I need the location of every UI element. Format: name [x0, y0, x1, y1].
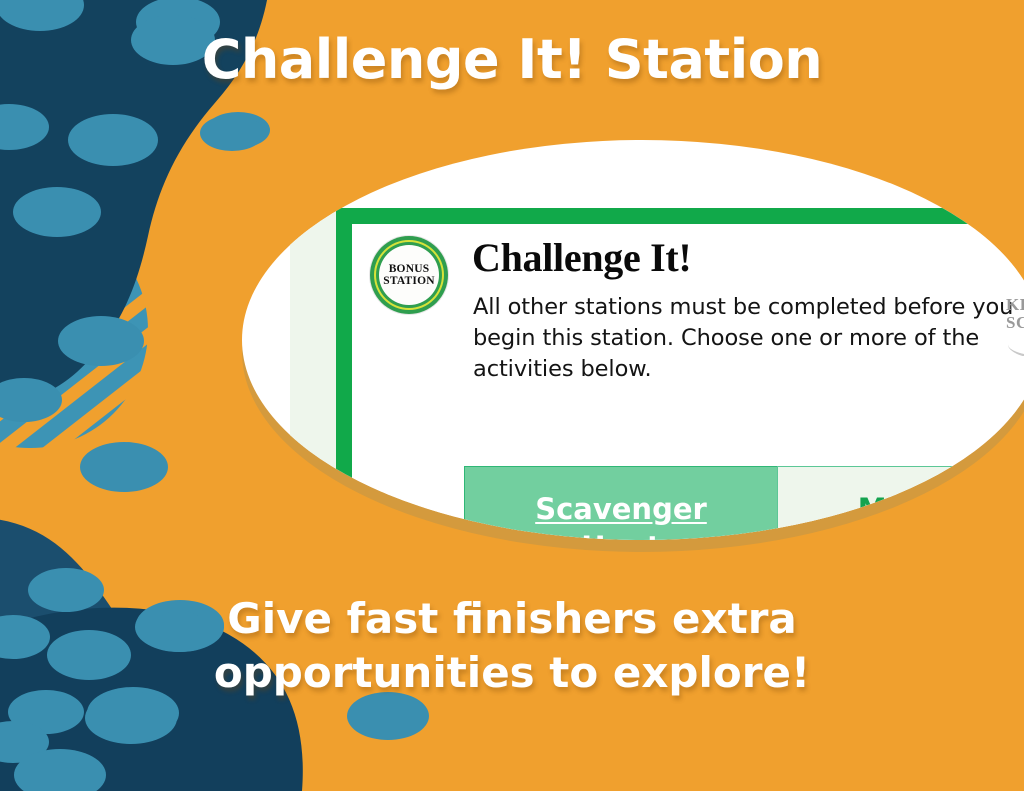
activity-label-line-1: Scavenger [535, 492, 707, 526]
worksheet-screenshot-oval: BONUS STATION Challenge It! All other st… [242, 140, 1024, 540]
striped-circle-left [0, 120, 255, 543]
activity-label-matching-game[interactable]: Matching Game [858, 490, 1009, 540]
worksheet-left-green-bar-foot [336, 498, 352, 540]
bonus-station-badge-text: BONUS STATION [366, 232, 452, 318]
caption-line-2: opportunities to explore! [0, 646, 1024, 700]
worksheet-top-green-bar-taper [996, 208, 1024, 224]
watermark-swoosh-icon [1008, 330, 1024, 356]
activity-label-line-1: Matching [858, 492, 1009, 526]
activity-cell-matching-game[interactable]: Matching Game [777, 466, 1024, 540]
activity-label-line-2: Hunt [581, 530, 660, 540]
kesler-science-watermark-logo: KES SCIE [1006, 296, 1024, 356]
activity-cell-scavenger-hunt[interactable]: Scavenger Hunt [464, 466, 777, 540]
worksheet-left-green-bar [336, 208, 352, 498]
badge-line-2: STATION [383, 275, 434, 288]
worksheet-left-pale-strip [290, 208, 336, 540]
slide-caption: Give fast finishers extra opportunities … [0, 592, 1024, 700]
worksheet-page: BONUS STATION Challenge It! All other st… [290, 208, 1024, 540]
activity-label-line-2: Game [887, 530, 980, 540]
worksheet-top-green-bar [336, 208, 996, 224]
slide-canvas: Challenge It! Station [0, 0, 1024, 791]
activity-label-scavenger-hunt[interactable]: Scavenger Hunt [535, 490, 707, 540]
instruction-line-2: begin this station. Choose one or more o… [473, 323, 1024, 354]
watermark-line-1: KES [1006, 296, 1024, 314]
instruction-line-1: All other stations must be completed bef… [473, 292, 1024, 323]
worksheet-heading: Challenge It! [472, 236, 691, 280]
activities-table: Scavenger Hunt Matching Game [464, 466, 1024, 540]
slide-title: Challenge It! Station [0, 28, 1024, 91]
worksheet-instructions: All other stations must be completed bef… [473, 292, 1024, 385]
caption-line-1: Give fast finishers extra [0, 592, 1024, 646]
instruction-line-3: activities below. [473, 354, 1024, 385]
badge-line-1: BONUS [389, 263, 430, 276]
bonus-station-badge: BONUS STATION [366, 232, 452, 318]
